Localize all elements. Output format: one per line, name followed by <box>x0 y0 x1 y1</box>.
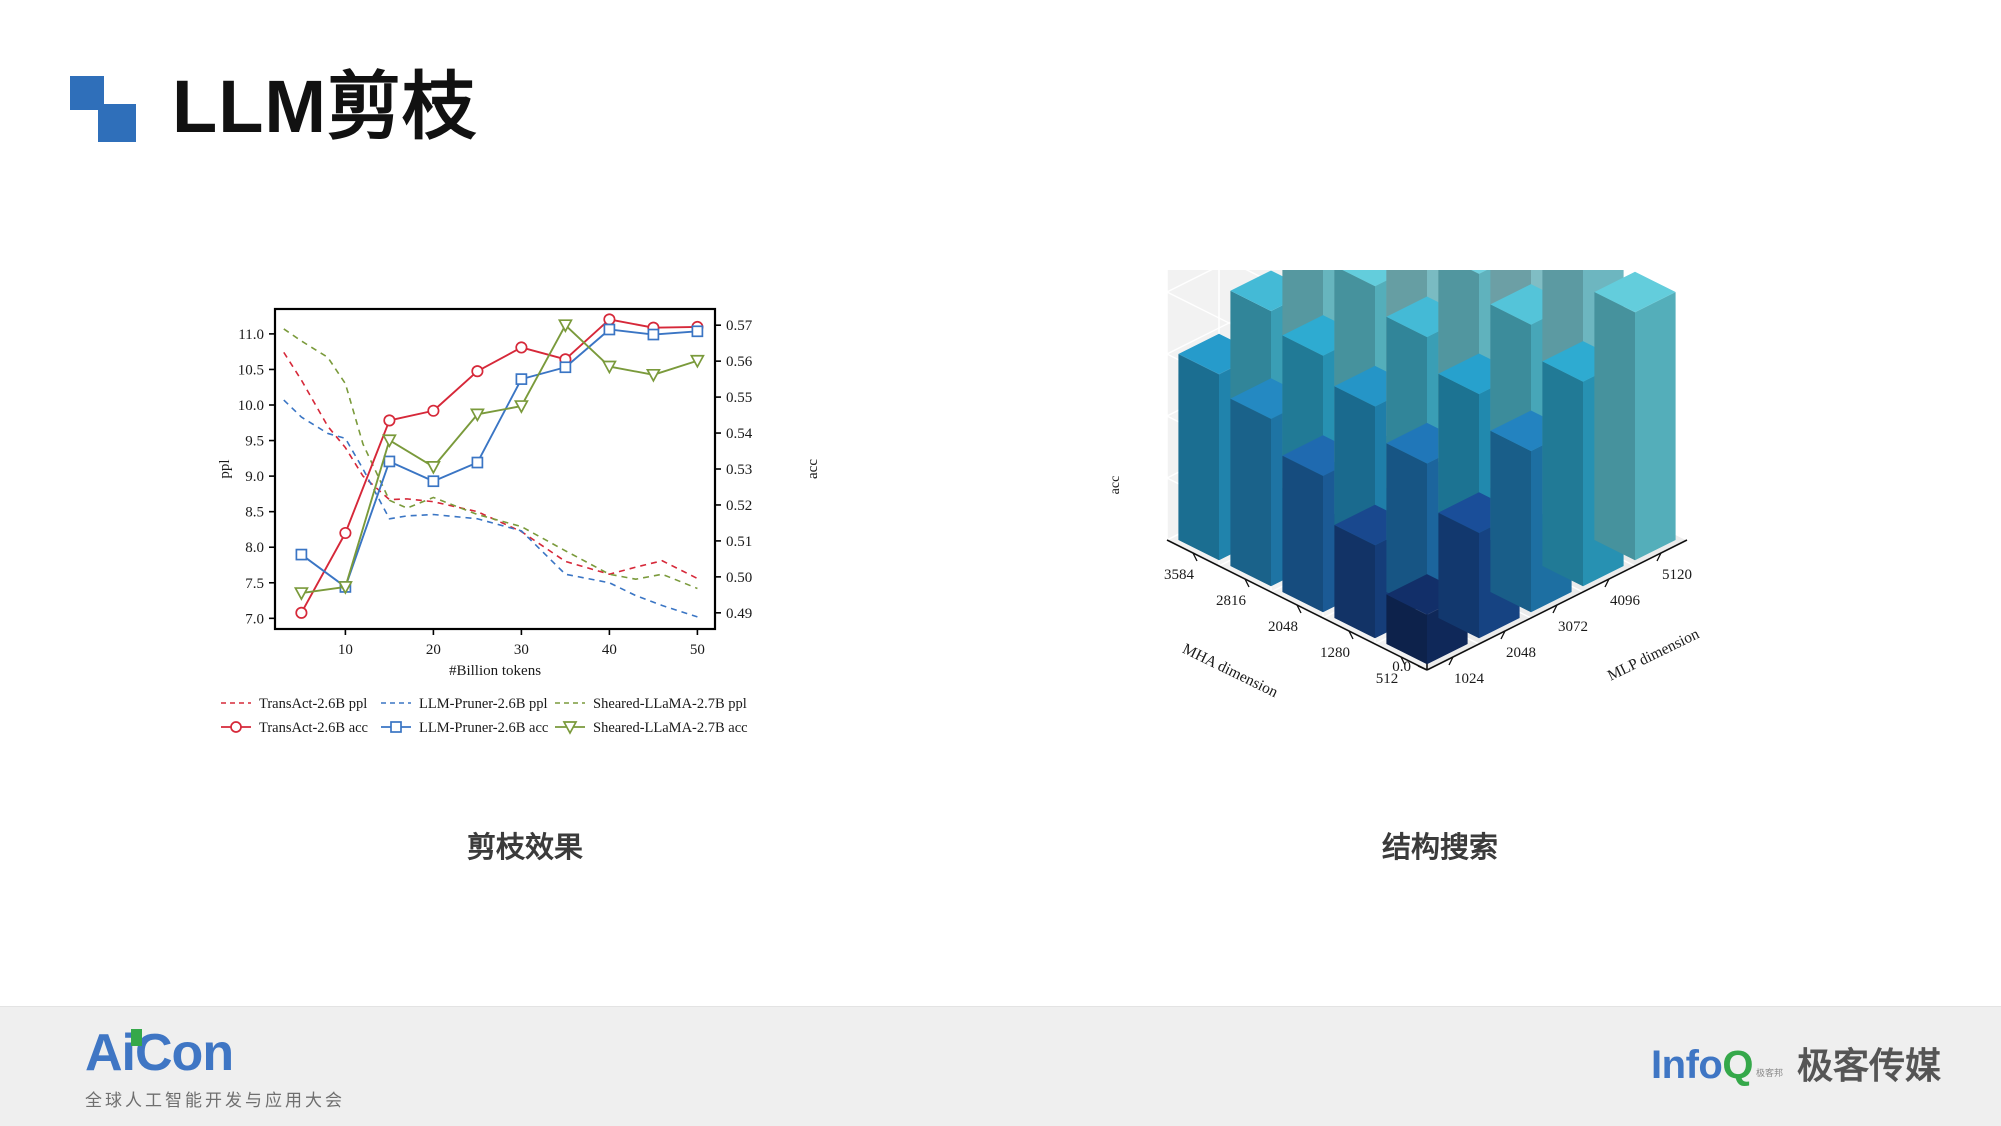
bar3d-cell <box>1594 272 1675 561</box>
right-figure-caption: 结构搜索 <box>1075 824 1805 866</box>
infoq-wordmark: InfoQ <box>1651 1045 1753 1085</box>
page-title: LLM剪枝 <box>172 70 477 144</box>
aicon-wordmark-text: AiCon <box>85 1024 233 1082</box>
svg-text:40: 40 <box>602 642 617 658</box>
mlp-tick-label: 2048 <box>1506 645 1536 661</box>
mha-tick-label: 512 <box>1376 671 1399 687</box>
mlp-tick-label: 1024 <box>1454 671 1485 687</box>
mha-tick-label: 2816 <box>1216 593 1247 609</box>
slide-root: LLM剪枝 7.07.58.08.59.09.510.010.511.0 0.4… <box>0 0 2001 1126</box>
svg-text:30: 30 <box>514 642 529 658</box>
svg-text:0.52: 0.52 <box>726 498 752 514</box>
svg-text:0.57: 0.57 <box>726 318 753 334</box>
structure-search-figure: 0.00.10.20.30.40.5 512128020482816358410… <box>1075 270 1805 760</box>
infoq-info-text: Info <box>1651 1043 1722 1087</box>
mlp-tick-label: 4096 <box>1610 593 1641 609</box>
left-figure-caption: 剪枝效果 <box>205 824 845 866</box>
infoq-q-text: Q <box>1722 1043 1753 1087</box>
aicon-subtitle: 全球人工智能开发与应用大会 <box>85 1086 345 1111</box>
two-squares-logo-icon <box>70 76 142 138</box>
y-axis-label-acc: acc <box>805 459 821 479</box>
svg-text:8.0: 8.0 <box>245 540 264 556</box>
svg-text:0.51: 0.51 <box>726 534 752 550</box>
bar3d-svg: 0.00.10.20.30.40.5 512128020482816358410… <box>1075 270 1805 760</box>
legend-label: TransAct-2.6B acc <box>259 720 368 736</box>
aicon-wordmark: AiCon <box>85 1027 233 1079</box>
svg-text:9.5: 9.5 <box>245 434 264 450</box>
mha-tick-label: 1280 <box>1320 645 1350 661</box>
chart-legend: TransAct-2.6B pplLLM-Pruner-2.6B pplShea… <box>221 696 748 736</box>
3d-bars-layer <box>1178 270 1675 664</box>
y-axis-label-ppl: ppl <box>217 459 233 478</box>
svg-text:10.5: 10.5 <box>238 362 264 378</box>
infoq-tiny-text: 极客邦 <box>1756 1066 1783 1079</box>
mha-tick-label: 2048 <box>1268 619 1298 635</box>
svg-text:0.50: 0.50 <box>726 570 752 586</box>
mha-tick-label: 3584 <box>1164 567 1195 583</box>
mlp-axis-label: MLP dimension <box>1605 625 1702 684</box>
bar-face-left <box>1282 456 1323 613</box>
mha-axis-label: MHA dimension <box>1180 640 1281 701</box>
infoq-chinese-name: 极客传媒 <box>1797 1048 1941 1084</box>
svg-text:0.54: 0.54 <box>726 426 753 442</box>
slide-header: LLM剪枝 <box>70 70 477 144</box>
svg-text:0.53: 0.53 <box>726 462 752 478</box>
line-chart-svg: 7.07.58.08.59.09.510.010.511.0 0.490.500… <box>205 295 845 750</box>
svg-text:7.5: 7.5 <box>245 576 264 592</box>
mlp-tick-label: 3072 <box>1558 619 1588 635</box>
aicon-green-accent <box>131 1029 142 1046</box>
bar-face-left <box>1542 361 1583 586</box>
acc-3d-bar-chart: 0.00.10.20.30.40.5 512128020482816358410… <box>1075 270 1805 760</box>
pruning-effect-figure: 7.07.58.08.59.09.510.010.511.0 0.490.500… <box>205 295 845 750</box>
ppl-acc-line-chart: 7.07.58.08.59.09.510.010.511.0 0.490.500… <box>205 295 845 750</box>
z-axis-label: acc <box>1108 476 1123 495</box>
bar-face-left <box>1438 513 1479 639</box>
bar-face-left <box>1178 354 1219 560</box>
aicon-logo: AiCon 全球人工智能开发与应用大会 <box>85 1027 345 1111</box>
svg-text:7.0: 7.0 <box>245 611 264 627</box>
svg-text:0.56: 0.56 <box>726 354 753 370</box>
bar-face-right <box>1635 292 1676 560</box>
legend-label: TransAct-2.6B ppl <box>259 696 367 712</box>
bar-face-left <box>1594 292 1635 560</box>
svg-text:0.49: 0.49 <box>726 606 752 622</box>
legend-label: Sheared-LLaMA-2.7B acc <box>593 720 748 736</box>
svg-text:20: 20 <box>426 642 441 658</box>
logo-square-bottom <box>98 104 136 142</box>
legend-label: LLM-Pruner-2.6B acc <box>419 720 548 736</box>
svg-text:50: 50 <box>690 642 705 658</box>
x-axis-ticks: 1020304050 <box>338 629 705 658</box>
left-figure-caption-wrap: 剪枝效果 <box>205 808 845 866</box>
infoq-logo: InfoQ 极客邦 极客传媒 <box>1651 1045 1941 1085</box>
mlp-tick-label: 5120 <box>1662 567 1692 583</box>
plot-frame <box>275 309 715 629</box>
svg-text:8.5: 8.5 <box>245 505 264 521</box>
right-figure-caption-wrap: 结构搜索 <box>1075 808 1805 866</box>
bar-face-left <box>1230 399 1271 587</box>
slide-footer: AiCon 全球人工智能开发与应用大会 InfoQ 极客邦 极客传媒 <box>0 1006 2001 1126</box>
svg-text:9.0: 9.0 <box>245 469 264 485</box>
bar-face-left <box>1490 431 1531 613</box>
svg-text:0.55: 0.55 <box>726 390 752 406</box>
legend-label: LLM-Pruner-2.6B ppl <box>419 696 548 712</box>
acc-axis-ticks: 0.490.500.510.520.530.540.550.560.57 <box>715 318 753 622</box>
ppl-axis-ticks: 7.07.58.08.59.09.510.010.511.0 <box>238 327 275 627</box>
x-axis-label: #Billion tokens <box>449 663 541 679</box>
svg-text:10: 10 <box>338 642 353 658</box>
svg-text:10.0: 10.0 <box>238 398 264 414</box>
legend-label: Sheared-LLaMA-2.7B ppl <box>593 696 747 712</box>
svg-text:11.0: 11.0 <box>238 327 264 343</box>
